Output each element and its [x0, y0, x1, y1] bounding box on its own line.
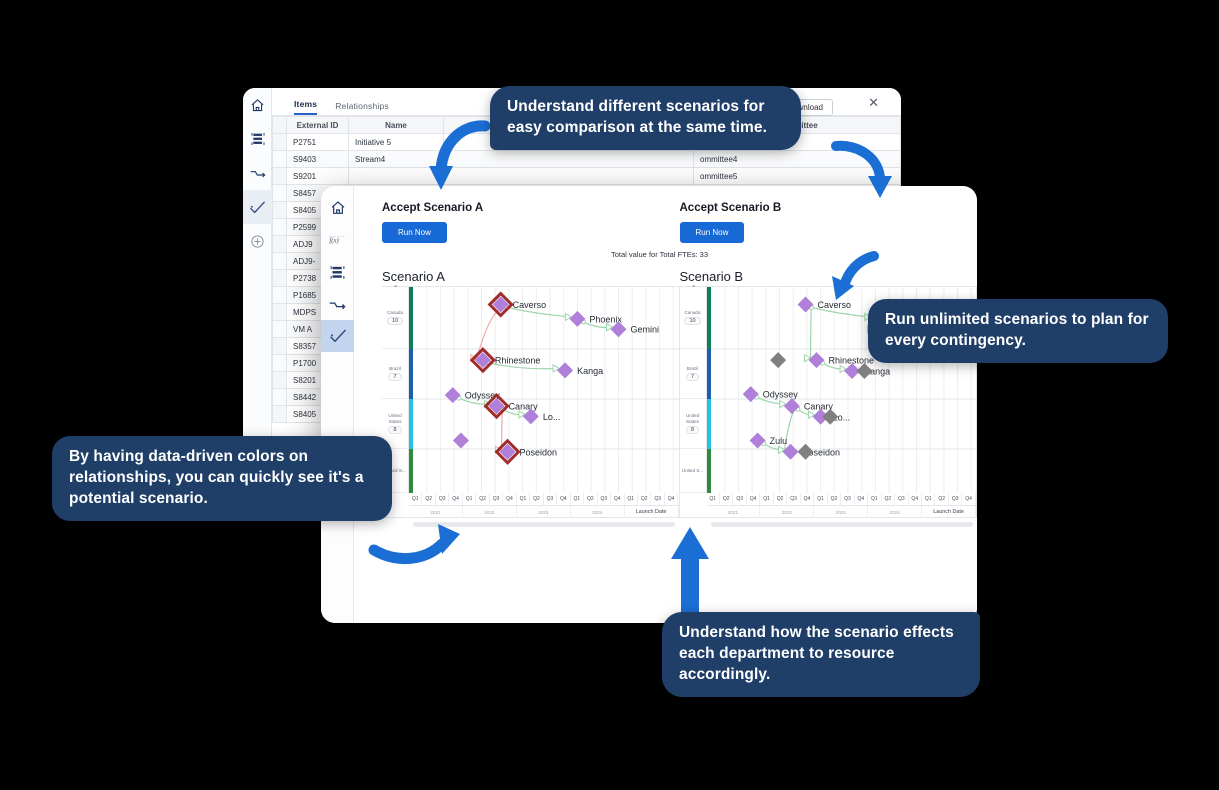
screenshot-stage: Items Relationships External ID Name Des… [0, 0, 1219, 790]
quarter-tick: Q4 [801, 493, 814, 505]
node-label: Gemini [631, 325, 660, 335]
fte-annotation: Total value for Total FTEs: 33 [598, 251, 708, 259]
quarter-tick: Q3 [490, 493, 503, 505]
axis-band-brazil: Brazil7 [680, 349, 706, 399]
node-lo[interactable]: Lo... [523, 408, 561, 424]
quarter-tick: Q1 [517, 493, 530, 505]
table-row[interactable]: S9201ommittee5 [273, 168, 901, 185]
quarter-tick: Q4 [747, 493, 760, 505]
quarter-tick: Q3 [787, 493, 800, 505]
row-handle [273, 236, 287, 253]
node-diamond[interactable] [569, 311, 585, 327]
run-now-button-b[interactable]: Run Now [680, 222, 745, 243]
node-label: Odyssey [762, 390, 798, 400]
node-label: Canary [509, 402, 539, 412]
quarter-tick: Q1 [409, 493, 422, 505]
chart-b-quarter-ticks: Q1Q2Q3Q4Q1Q2Q3Q4Q1Q2Q3Q4Q1Q2Q3Q4Q1Q2Q3Q4 [707, 493, 977, 506]
chart-a-quarter-ticks: Q1Q2Q3Q4Q1Q2Q3Q4Q1Q2Q3Q4Q1Q2Q3Q4Q1Q2Q3Q4 [409, 493, 679, 506]
node-diamond[interactable] [770, 352, 786, 368]
row-handle [273, 355, 287, 372]
row-handle [273, 287, 287, 304]
arrow-up-to-departments [822, 250, 882, 308]
chart-b-year-ticks: 2021202220232024Launch Date [707, 506, 977, 518]
edge-caverso-rhinestone[interactable] [810, 307, 811, 358]
arrow-to-relationship [368, 512, 468, 567]
row-handle [273, 406, 287, 423]
node-label: Caverso [513, 300, 547, 310]
year-tick: 2023 [814, 506, 868, 518]
axis-band-label: Canada [684, 310, 700, 315]
callout-departments: Understand how the scenario effects each… [662, 612, 980, 697]
quarter-tick: Q3 [544, 493, 557, 505]
check-scenario-icon[interactable] [321, 320, 354, 352]
background-sidebar[interactable] [243, 88, 272, 438]
accept-scenario-b-block: Accept Scenario B Run Now [680, 202, 978, 243]
axis-band-value: 10 [387, 317, 403, 325]
axis-band-united-s---: United S... [680, 449, 706, 493]
chart-a-frame: Site Canada10Brazil7United States8United… [382, 286, 680, 518]
axis-band-label: United S... [682, 468, 703, 473]
table-row[interactable]: S9403Stream4ommittee4 [273, 151, 901, 168]
chart-a-title: Scenario A [382, 269, 680, 284]
flow-icon[interactable] [321, 288, 354, 320]
quarter-tick: Q2 [584, 493, 597, 505]
quarter-tick: Q1 [814, 493, 827, 505]
quarter-tick: Q2 [530, 493, 543, 505]
axis-band-label: United States [382, 413, 408, 423]
quarter-tick: Q2 [828, 493, 841, 505]
quarter-tick: Q1 [463, 493, 476, 505]
year-tick: 2022 [760, 506, 814, 518]
quarter-tick: Q2 [720, 493, 733, 505]
node-diamond[interactable] [557, 362, 573, 378]
quarter-tick: Q2 [774, 493, 787, 505]
accept-scenario-a-title: Accept Scenario A [382, 202, 680, 214]
quarter-tick: Q3 [895, 493, 908, 505]
quarter-tick: Q1 [760, 493, 773, 505]
row-handle [273, 253, 287, 270]
row-handle [273, 185, 287, 202]
tab-items[interactable]: Items [294, 99, 317, 115]
list-filter-icon[interactable] [321, 256, 354, 288]
quarter-tick: Q1 [571, 493, 584, 505]
node-unlabeled[interactable] [770, 352, 786, 368]
axis-band-label: United States [680, 413, 706, 423]
node-gemini[interactable]: Gemini [611, 321, 660, 337]
node-unlabeled[interactable] [453, 432, 469, 448]
chart-a-plot[interactable]: CaversoPhoenixGeminiRhinestoneKangaOdyss… [413, 287, 679, 493]
home-icon[interactable] [243, 88, 272, 122]
node-label: Poseidon [520, 447, 558, 457]
edge-canary-poseidon[interactable] [502, 409, 503, 450]
quarter-tick: Q3 [651, 493, 664, 505]
node-label: Kanga [577, 366, 603, 376]
accept-scenarios-row: Accept Scenario A Run Now Accept Scenari… [354, 202, 977, 243]
node-unlabeled[interactable] [797, 444, 813, 460]
quarter-tick: Q4 [503, 493, 516, 505]
quarter-tick: Q3 [733, 493, 746, 505]
accept-scenario-a-block: Accept Scenario A Run Now [382, 202, 680, 243]
plot-svg: CaversoPhoenixGeminiRhinestoneKangaOdyss… [413, 287, 679, 493]
node-diamond[interactable] [445, 387, 461, 403]
home-icon[interactable] [321, 192, 354, 224]
x-axis-label: Launch Date [922, 506, 976, 518]
year-tick: 2024 [868, 506, 922, 518]
node-label: Lo... [543, 412, 561, 422]
node-diamond[interactable] [742, 386, 758, 402]
node-label: Zulu [769, 436, 787, 446]
axis-band-canada: Canada10 [680, 287, 706, 349]
quarter-tick: Q4 [855, 493, 868, 505]
list-filter-icon[interactable] [243, 122, 272, 156]
cell-external-id: P2751 [287, 134, 349, 151]
chart-b-hscrollbar[interactable] [711, 522, 973, 527]
quarter-tick: Q4 [449, 493, 462, 505]
flow-icon[interactable] [243, 156, 272, 190]
node-diamond[interactable] [783, 398, 799, 414]
check-scenario-icon[interactable] [243, 190, 272, 224]
arrow-to-scenario-b [828, 140, 898, 205]
callout-unlimited: Run unlimited scenarios to plan for ever… [868, 299, 1168, 363]
quarter-tick: Q3 [436, 493, 449, 505]
arrow-up-department [668, 525, 712, 615]
quarter-tick: Q4 [909, 493, 922, 505]
node-diamond[interactable] [797, 444, 813, 460]
axis-band-value: 7 [388, 373, 401, 381]
node-poseidon[interactable]: Poseidon [497, 441, 558, 463]
quarter-tick: Q2 [422, 493, 435, 505]
add-icon[interactable] [243, 224, 272, 258]
quarter-tick: Q3 [841, 493, 854, 505]
quarter-tick: Q4 [665, 493, 678, 505]
quarter-tick: Q4 [557, 493, 570, 505]
row-handle [273, 304, 287, 321]
axis-band-label: Canada [387, 310, 403, 315]
cell-external-id: S9201 [287, 168, 349, 185]
row-handle [273, 372, 287, 389]
axis-band-brazil: Brazil7 [382, 349, 408, 399]
arrow-to-table [405, 118, 495, 198]
row-handle [273, 151, 287, 168]
node-phoenix[interactable]: Phoenix [569, 311, 622, 327]
axis-band-label: Brazil [389, 366, 401, 371]
row-handle [273, 270, 287, 287]
row-handle [273, 134, 287, 151]
tab-relationships[interactable]: Relationships [335, 101, 389, 115]
col-external-id[interactable]: External ID [287, 117, 349, 134]
axis-band-united-states: United States8 [680, 399, 706, 449]
quarter-tick: Q2 [638, 493, 651, 505]
quarter-tick: Q1 [707, 493, 720, 505]
row-handle [273, 202, 287, 219]
run-now-button-a[interactable]: Run Now [382, 222, 447, 243]
row-handle [273, 219, 287, 236]
quarter-tick: Q2 [476, 493, 489, 505]
quarter-tick: Q1 [868, 493, 881, 505]
row-handle [273, 389, 287, 406]
front-sidebar[interactable]: f(x) [321, 186, 354, 623]
row-handle [273, 321, 287, 338]
node-label: Rhinestone [495, 356, 541, 366]
chart-scenario-a: Scenario A Total value for Total FTEs: 3… [382, 269, 680, 527]
callout-scenarios: Understand different scenarios for easy … [490, 86, 801, 150]
quarter-tick: Q1 [625, 493, 638, 505]
axis-band-value: 7 [686, 373, 699, 381]
quarter-tick: Q2 [882, 493, 895, 505]
node-caverso[interactable]: Caverso [490, 294, 547, 316]
chart-b-y-axis: Canada10Brazil7United States8United S... [680, 287, 707, 493]
axis-band-value: 10 [684, 317, 700, 325]
chart-b-x-axis: Q1Q2Q3Q4Q1Q2Q3Q4Q1Q2Q3Q4Q1Q2Q3Q4Q1Q2Q3Q4… [707, 493, 977, 518]
svg-text:f(x): f(x) [329, 238, 339, 245]
row-handle [273, 338, 287, 355]
year-tick: 2021 [707, 506, 761, 518]
axis-band-value: 8 [388, 426, 401, 434]
quarter-tick: Q3 [598, 493, 611, 505]
callout-colors: By having data-driven colors on relation… [52, 436, 392, 521]
row-handle [273, 168, 287, 185]
cell-external-id: S9403 [287, 151, 349, 168]
node-kanga[interactable]: Kanga [557, 362, 603, 378]
year-tick: 2022 [463, 506, 517, 518]
quarter-tick: Q4 [962, 493, 975, 505]
close-icon[interactable]: ✕ [868, 96, 879, 109]
formula-icon[interactable]: f(x) [321, 224, 354, 256]
axis-band-label: Brazil [687, 366, 699, 371]
axis-band-canada: Canada10 [382, 287, 408, 349]
axis-band-value: 8 [686, 426, 699, 434]
quarter-tick: Q1 [922, 493, 935, 505]
table-corner-cell[interactable] [273, 117, 287, 134]
node-odyssey[interactable]: Odyssey [742, 386, 798, 402]
x-axis-label: Launch Date [625, 506, 679, 518]
year-tick: 2023 [517, 506, 571, 518]
quarter-tick: Q2 [935, 493, 948, 505]
node-diamond[interactable] [453, 432, 469, 448]
quarter-tick: Q4 [611, 493, 624, 505]
year-tick: 2024 [571, 506, 625, 518]
quarter-tick: Q3 [949, 493, 962, 505]
